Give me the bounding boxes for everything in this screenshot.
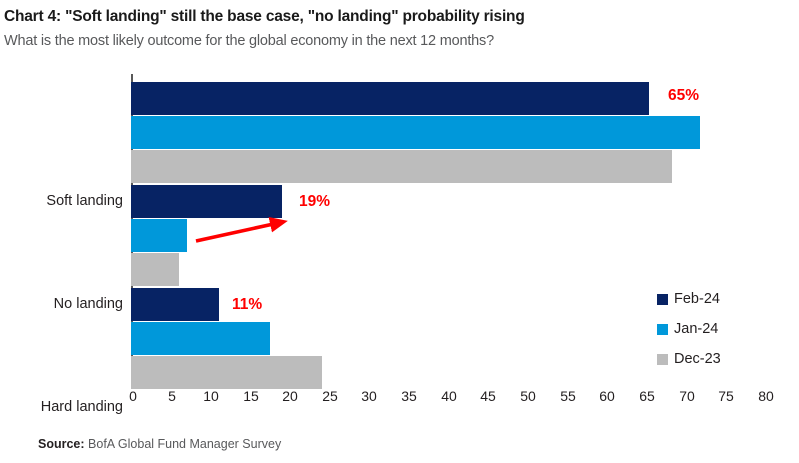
category-label-no-landing: No landing	[3, 296, 123, 312]
xtick-40: 40	[441, 388, 457, 404]
bar-no-landing-jan24[interactable]	[131, 219, 187, 252]
xtick-35: 35	[401, 388, 417, 404]
xtick-45: 45	[480, 388, 496, 404]
xtick-75: 75	[718, 388, 734, 404]
bar-group-no-landing	[131, 185, 768, 288]
xtick-70: 70	[679, 388, 695, 404]
category-label-soft-landing: Soft landing	[3, 193, 123, 209]
bar-soft-landing-dec23[interactable]	[131, 150, 672, 183]
bar-soft-landing-jan24[interactable]	[131, 116, 700, 149]
xtick-80: 80	[758, 388, 774, 404]
xtick-55: 55	[560, 388, 576, 404]
legend-item-dec23[interactable]: Dec-23	[657, 344, 777, 374]
xtick-50: 50	[520, 388, 536, 404]
legend-swatch-dec23-icon	[657, 354, 668, 365]
legend-swatch-feb24-icon	[657, 294, 668, 305]
category-label-hard-landing: Hard landing	[3, 399, 123, 415]
legend-label-feb24: Feb-24	[674, 291, 720, 307]
legend-item-jan24[interactable]: Jan-24	[657, 314, 777, 344]
xtick-0: 0	[129, 388, 137, 404]
xtick-15: 15	[243, 388, 259, 404]
legend-swatch-jan24-icon	[657, 324, 668, 335]
legend-item-feb24[interactable]: Feb-24	[657, 284, 777, 314]
page-title: Chart 4: "Soft landing" still the base c…	[4, 8, 525, 26]
xtick-5: 5	[168, 388, 176, 404]
callout-soft-landing: 65%	[668, 87, 699, 105]
xtick-20: 20	[282, 388, 298, 404]
bar-no-landing-feb24[interactable]	[131, 185, 282, 218]
xtick-10: 10	[203, 388, 219, 404]
bar-no-landing-dec23[interactable]	[131, 253, 179, 286]
callout-hard-landing: 11%	[232, 296, 262, 314]
xtick-30: 30	[361, 388, 377, 404]
source-note: Source: BofA Global Fund Manager Survey	[38, 437, 281, 451]
legend-label-dec23: Dec-23	[674, 351, 721, 367]
source-text: BofA Global Fund Manager Survey	[88, 437, 281, 451]
bar-soft-landing-feb24[interactable]	[131, 82, 649, 115]
legend-label-jan24: Jan-24	[674, 321, 718, 337]
xtick-65: 65	[639, 388, 655, 404]
source-label: Source:	[38, 437, 85, 451]
x-axis: 0 5 10 15 20 25 30 35 40 45 50 55 60 65 …	[131, 384, 768, 408]
y-axis-category-labels: Soft landing No landing Hard landing	[0, 74, 123, 384]
chart-subtitle: What is the most likely outcome for the …	[4, 33, 494, 49]
legend: Feb-24 Jan-24 Dec-23	[657, 284, 777, 374]
callout-no-landing: 19%	[299, 193, 330, 211]
bar-hard-landing-jan24[interactable]	[131, 322, 270, 355]
bar-hard-landing-feb24[interactable]	[131, 288, 219, 321]
xtick-25: 25	[322, 388, 338, 404]
xtick-60: 60	[599, 388, 615, 404]
